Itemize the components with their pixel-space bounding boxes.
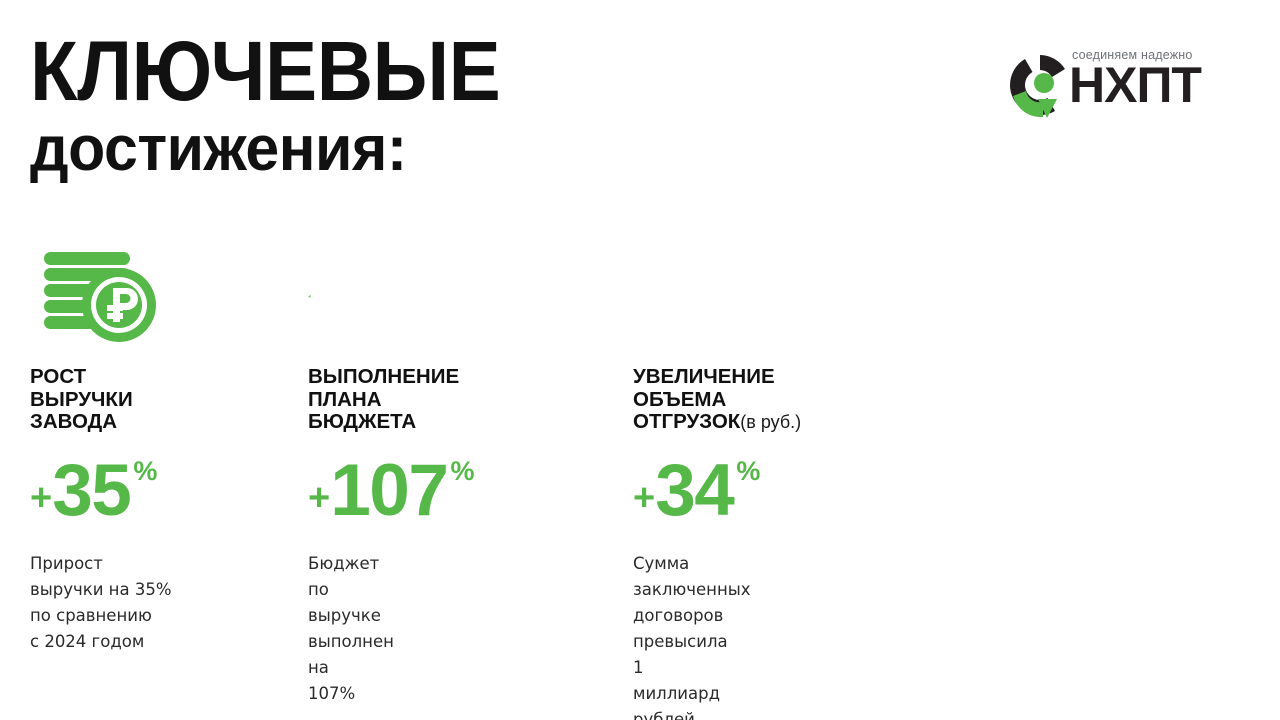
- page-title: КЛЮЧЕВЫЕ достижения:: [30, 32, 536, 180]
- nhpt-circle-mark-icon: [1007, 52, 1073, 122]
- logo-wordmark: НХПТ: [1069, 60, 1264, 110]
- logo-text-block: соединяем надежно НХПТ: [1069, 48, 1264, 110]
- metrics-row: РОСТ ВЫРУЧКИ ЗАВОДА + 35 % Прирост выруч…: [0, 248, 1280, 718]
- brand-logo: соединяем надежно НХПТ: [1007, 48, 1262, 130]
- page-title-line-2: достижения:: [30, 116, 510, 180]
- page-title-line-1: КЛЮЧЕВЫЕ: [30, 32, 500, 110]
- metric-card-orders: ПОВЫШЕНИЕ КОЛИЧЕСТВА ЗАКАЗОВ + 3 % Рост …: [243, 248, 1280, 718]
- slide-root: КЛЮЧЕВЫЕ достижения: соединяем надежн: [0, 0, 1280, 720]
- header: КЛЮЧЕВЫЕ достижения: соединяем надежн: [0, 0, 1280, 230]
